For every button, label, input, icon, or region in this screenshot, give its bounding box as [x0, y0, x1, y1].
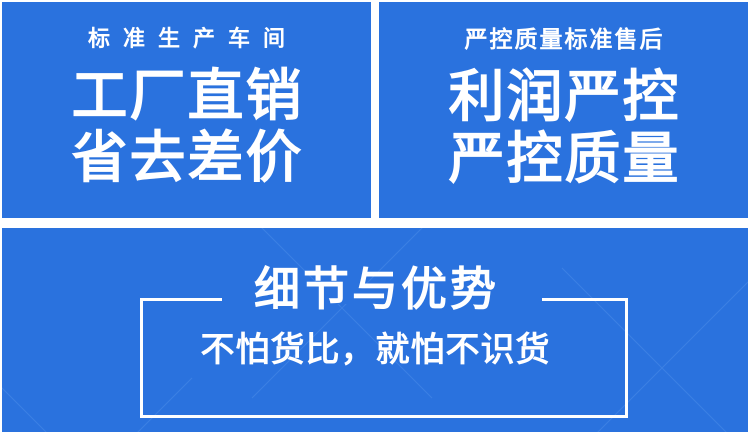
panel-left-eyebrow: 标准生产车间: [75, 28, 298, 50]
panel-right-eyebrow: 严控质量标准售后: [463, 28, 665, 51]
promo-banner: 标准生产车间 工厂直销 省去差价 严控质量标准售后 利润严控 严控质量: [0, 0, 750, 440]
panel-left-headline-line1: 工厂直销: [70, 66, 304, 126]
top-panel-row: 标准生产车间 工厂直销 省去差价 严控质量标准售后 利润严控 严控质量: [2, 2, 748, 218]
panel-left-headline-line2: 省去差价: [70, 128, 304, 188]
panel-details-advantages: 细节与优势 不怕货比，就怕不识货: [2, 228, 748, 432]
panel-right-headline-line2: 严控质量: [447, 129, 681, 189]
panel-factory-direct: 标准生产车间 工厂直销 省去差价: [2, 2, 371, 218]
panel-right-headline-line1: 利润严控: [447, 67, 681, 127]
bottom-panel-subtitle: 不怕货比，就怕不识货: [2, 333, 748, 367]
panel-quality-control: 严控质量标准售后 利润严控 严控质量: [379, 2, 748, 218]
bottom-panel-title: 细节与优势: [2, 266, 748, 312]
